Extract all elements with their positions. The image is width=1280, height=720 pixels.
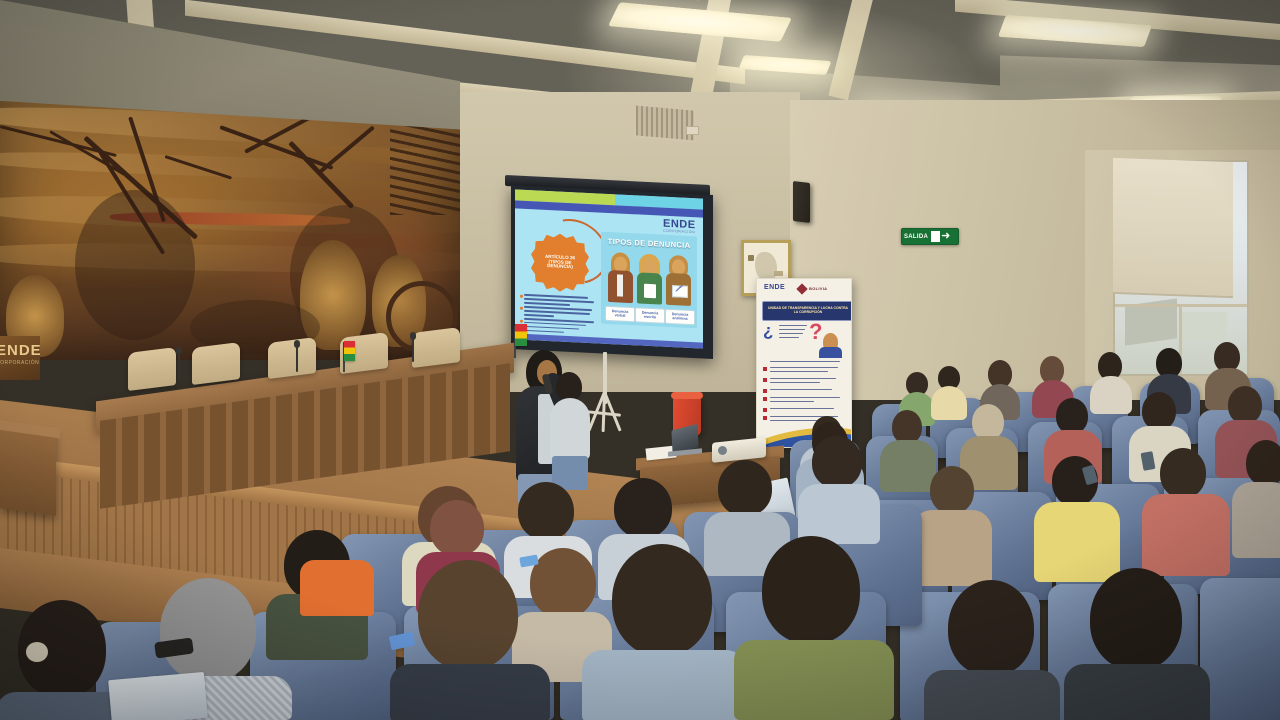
wall-art-label: ENDE	[0, 342, 42, 359]
complaint-label-3: Denuncia anónima	[665, 309, 695, 325]
complaint-type-1	[607, 252, 634, 305]
question-mark-left-icon: ¿	[763, 322, 773, 339]
vent-label	[686, 126, 699, 135]
question-mark-right-icon: ?	[809, 321, 822, 343]
stage-chair-1	[128, 347, 176, 391]
complaint-type-3	[665, 255, 692, 308]
wall-speaker	[793, 181, 810, 223]
projected-slide: ENDE CORPORACIÓN ARTÍCULO 36 (TIPOS DE D…	[515, 189, 703, 348]
wall-mural	[0, 95, 460, 360]
wall-art-label-block: ENDE CORPORACIÓN	[0, 336, 40, 380]
slide-brand-logo: ENDE CORPORACIÓN	[663, 219, 696, 235]
podium	[0, 424, 56, 516]
complaint-label-2: Denuncia escrita	[635, 307, 665, 323]
banner-title: UNIDAD DE TRANSPARENCIA Y LUCHA CONTRA L…	[762, 301, 852, 321]
complaint-type-2	[636, 253, 663, 306]
complaint-label-1: Denuncia verbal	[605, 306, 635, 322]
air-vent	[634, 103, 696, 142]
seat	[1200, 578, 1280, 720]
banner-brand: ENDE	[764, 284, 785, 291]
slide-body-text	[524, 294, 596, 337]
microphone-3	[409, 330, 417, 362]
slide-section-title: TIPOS DE DENUNCIA	[601, 237, 697, 251]
exit-arrow-icon: ➜	[941, 231, 950, 242]
slide-types-panel: TIPOS DE DENUNCIA Denuncia verbal	[601, 232, 697, 329]
stage-chair-3	[268, 337, 316, 379]
window-blind	[1113, 158, 1233, 298]
projector-lens-icon	[718, 446, 727, 455]
exit-sign-label: SALIDA	[902, 234, 930, 240]
bolivia-flag	[340, 336, 356, 374]
exit-sign: SALIDA ➜	[901, 228, 959, 245]
hair-clip-icon	[26, 642, 48, 662]
second-speaker	[548, 372, 598, 492]
auditorium-photo: ENDE CORPORACIÓN ENDE CORPORACIÓN ARTÍCU…	[0, 0, 1280, 720]
trash-bin-lid	[671, 392, 703, 399]
stage-chair-5	[412, 327, 460, 368]
microphone-2	[293, 338, 301, 372]
banner-partner-brand: BOLIVIA	[809, 286, 827, 291]
wall-art-sublabel: CORPORACIÓN	[0, 360, 39, 366]
microphone-1	[175, 345, 183, 379]
audience-laptop[interactable]	[108, 672, 208, 720]
stage-chair-2	[192, 342, 240, 385]
banner-emblem	[796, 283, 807, 294]
